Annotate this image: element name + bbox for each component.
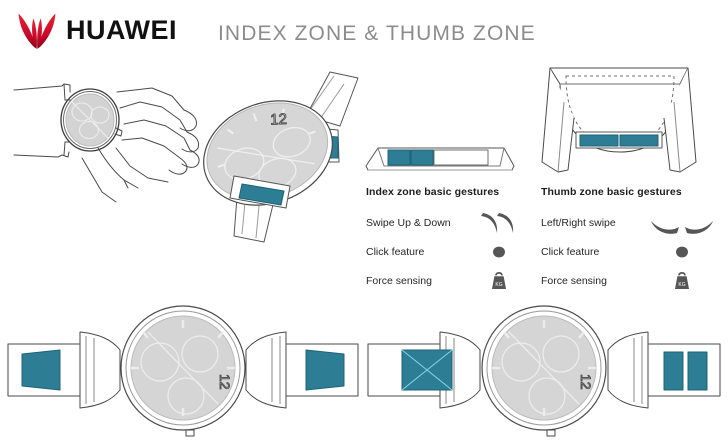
legend-row: Left/Right swipe (541, 210, 715, 235)
huawei-logo: HUAWEI (14, 10, 177, 50)
strap-folded-front-view (534, 58, 704, 178)
swipe-left-right-icon (649, 211, 715, 235)
hand-wearing-watch-sketch (12, 62, 222, 202)
huawei-flower-logo-icon (14, 10, 60, 50)
svg-text:12: 12 (217, 374, 233, 390)
legend-row: Swipe Up & Down (366, 210, 524, 235)
legend-label: Force sensing (366, 275, 474, 287)
svg-text:12: 12 (578, 374, 594, 390)
watch-perspective-view: 12 (198, 58, 368, 243)
diagram-sheet: HUAWEI INDEX ZONE & THUMB ZONE (0, 0, 728, 440)
click-dot-icon (474, 240, 524, 264)
click-dot-icon (649, 240, 715, 264)
legend-title: Thumb zone basic gestures (541, 186, 715, 198)
strap-side-profile-view (362, 134, 518, 182)
watch-flat-index-zone: 12 (8, 296, 358, 440)
weight-kg-icon: KG (474, 269, 524, 293)
legend-label: Swipe Up & Down (366, 217, 474, 229)
legend-thumb-zone: Thumb zone basic gestures Left/Right swi… (541, 186, 715, 297)
legend-label: Click feature (541, 246, 649, 258)
legend-row: Click feature (366, 239, 524, 264)
watch-flat-thumb-zone: 12 (368, 296, 720, 440)
legend-row: Force sensing KG (366, 268, 524, 293)
legend-label: Left/Right swipe (541, 217, 649, 229)
legend-row: Click feature (541, 239, 715, 264)
legend-row: Force sensing KG (541, 268, 715, 293)
legend-title: Index zone basic gestures (366, 186, 524, 198)
legend-index-zone: Index zone basic gestures Swipe Up & Dow… (366, 186, 524, 297)
legend-label: Force sensing (541, 275, 649, 287)
brand-name: HUAWEI (66, 17, 177, 44)
legend-label: Click feature (366, 246, 474, 258)
swipe-up-down-icon (474, 211, 524, 235)
svg-text:KG: KG (495, 282, 502, 288)
weight-kg-icon: KG (649, 269, 715, 293)
svg-text:12: 12 (270, 111, 287, 129)
svg-text:KG: KG (678, 282, 685, 288)
page-title: INDEX ZONE & THUMB ZONE (218, 22, 536, 46)
